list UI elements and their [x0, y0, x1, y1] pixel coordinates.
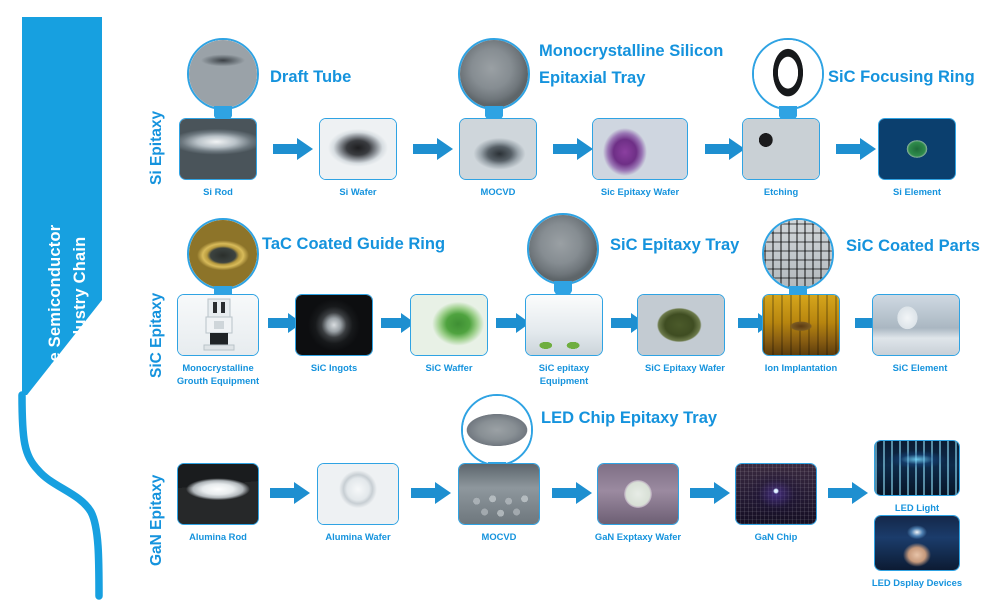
node-caption: Monocrystalline Grouth Equipment: [168, 361, 268, 387]
flow-arrow-icon: [413, 138, 453, 160]
flow-arrow-icon: [411, 482, 451, 504]
si-wafer-image: [319, 118, 397, 180]
flow-arrow-icon: [270, 482, 310, 504]
node-sic-epitaxy-wafer: SiC Epitaxy Wafer: [637, 294, 733, 374]
callout-sic-epitaxy-tray: [527, 213, 599, 285]
node-etching: Etching: [742, 118, 820, 198]
flow-arrow-icon: [836, 138, 876, 160]
callout-led-chip-epitaxy-tray: [461, 394, 533, 466]
callout-title-mono-si-tray: Monocrystalline Silicon Epitaxial Tray: [539, 38, 723, 92]
sic-waffer-image: [410, 294, 488, 356]
industry-chain-diagram: Overview of the Semiconductor Chip Epita…: [0, 0, 1000, 607]
banner-shape: [0, 0, 130, 607]
node-led-light: LED Light: [874, 440, 970, 514]
callout-draft-tube: [187, 38, 259, 110]
node-caption: LED Light: [874, 501, 960, 514]
node-caption: SiC Element: [872, 361, 968, 374]
banner-title-line-1: Overview of the Semiconductor: [46, 225, 65, 478]
ion-implantation-image: [762, 294, 840, 356]
node-mocvd-gan: MOCVD: [458, 463, 536, 543]
node-caption: GaN Exptaxy Wafer: [583, 530, 693, 543]
etching-image: [742, 118, 820, 180]
sic-ingots-image: [295, 294, 373, 356]
node-caption: Si Rod: [179, 185, 257, 198]
led-display-devices-image: [874, 515, 960, 571]
sic-coated-parts-image: [762, 218, 834, 290]
si-rod-image: [179, 118, 257, 180]
node-sic-epitaxy-wafer-si-row: Sic Epitaxy Wafer: [592, 118, 688, 198]
node-si-element: Si Element: [878, 118, 956, 198]
alumina-rod-image: [177, 463, 259, 525]
node-caption: Si Element: [878, 185, 956, 198]
node-ion-implantation: Ion Implantation: [762, 294, 840, 374]
flow-arrow-icon: [690, 482, 730, 504]
node-alumina-rod: Alumina Rod: [177, 463, 273, 543]
monocrystalline-growth-equipment-image: [177, 294, 259, 356]
si-element-image: [878, 118, 956, 180]
sic-epitaxy-wafer-image: [637, 294, 725, 356]
title-banner: Overview of the Semiconductor Chip Epita…: [0, 0, 130, 607]
draft-tube-image: [187, 38, 259, 110]
node-caption: MOCVD: [459, 185, 537, 198]
node-caption: Alumina Rod: [170, 530, 266, 543]
node-alumina-wafer: Alumina Wafer: [317, 463, 413, 543]
banner-title-line-2: Chip Epitaxy Industry Chain: [71, 237, 90, 462]
node-sic-waffer: SiC Waffer: [410, 294, 488, 374]
node-monocrystalline-growth-equipment: Monocrystalline Grouth Equipment: [177, 294, 273, 387]
flow-arrow-icon: [705, 138, 745, 160]
node-sic-ingots: SiC Ingots: [295, 294, 373, 374]
node-caption: MOCVD: [458, 530, 540, 543]
callout-title-led-chip-epitaxy-tray: LED Chip Epitaxy Tray: [541, 405, 717, 432]
node-sic-epitaxy-equipment: SiC epitaxy Equipment: [525, 294, 603, 387]
sic-element-image: [872, 294, 960, 356]
row-label-gan-epitaxy: GaN Epitaxy: [148, 475, 166, 566]
mono-si-tray-image: [458, 38, 530, 110]
node-caption: SiC Ingots: [295, 361, 373, 374]
gan-chip-image: [735, 463, 817, 525]
callout-title-sic-coated-parts: SiC Coated Parts: [846, 233, 980, 260]
node-caption: GaN Chip: [735, 530, 817, 543]
row-label-si-epitaxy: Si Epitaxy: [148, 111, 166, 185]
node-led-display-devices: LED Dsplay Devices: [874, 515, 970, 589]
sic-focusing-ring-image: [752, 38, 824, 110]
callout-title-sic-focusing-ring: SiC Focusing Ring: [828, 64, 975, 91]
tac-coated-guide-ring-image: [187, 218, 259, 290]
node-caption: Alumina Wafer: [310, 530, 406, 543]
gan-exptaxy-wafer-image: [597, 463, 679, 525]
row-label-sic-epitaxy: SiC Epitaxy: [148, 293, 166, 378]
callout-tac-coated-guide-ring: [187, 218, 259, 290]
flow-arrow-icon: [273, 138, 313, 160]
callout-sic-coated-parts: [762, 218, 834, 290]
node-gan-chip: GaN Chip: [735, 463, 831, 543]
node-caption: LED Dsplay Devices: [858, 576, 976, 589]
callout-mono-si-tray: [458, 38, 530, 110]
callout-title-tac-coated-guide-ring: TaC Coated Guide Ring: [262, 231, 445, 258]
node-caption: SiC epitaxy Equipment: [525, 361, 603, 387]
node-caption: Ion Implantation: [751, 361, 851, 374]
node-caption: SiC Epitaxy Wafer: [637, 361, 733, 374]
node-si-wafer: Si Wafer: [319, 118, 397, 198]
sic-epitaxy-tray-image: [527, 213, 599, 285]
callout-title-draft-tube: Draft Tube: [270, 64, 351, 91]
sic-epitaxy-wafer-image: [592, 118, 688, 180]
alumina-wafer-image: [317, 463, 399, 525]
node-si-rod: Si Rod: [179, 118, 257, 198]
callout-title-sic-epitaxy-tray: SiC Epitaxy Tray: [610, 232, 739, 259]
node-caption: Sic Epitaxy Wafer: [592, 185, 688, 198]
sic-epitaxy-equipment-image: [525, 294, 603, 356]
node-sic-element: SiC Element: [872, 294, 968, 374]
mocvd-image: [459, 118, 537, 180]
node-caption: Etching: [742, 185, 820, 198]
node-caption: SiC Waffer: [410, 361, 488, 374]
led-light-image: [874, 440, 960, 496]
node-gan-exptaxy-wafer: GaN Exptaxy Wafer: [597, 463, 693, 543]
mocvd-image: [458, 463, 540, 525]
flow-arrow-icon: [828, 482, 868, 504]
flow-arrow-icon: [552, 482, 592, 504]
node-caption: Si Wafer: [319, 185, 397, 198]
led-chip-epitaxy-tray-image: [461, 394, 533, 466]
growth-furnace-glyph: [178, 295, 259, 355]
node-mocvd-si: MOCVD: [459, 118, 537, 198]
callout-sic-focusing-ring: [752, 38, 824, 110]
flow-arrow-icon: [553, 138, 593, 160]
